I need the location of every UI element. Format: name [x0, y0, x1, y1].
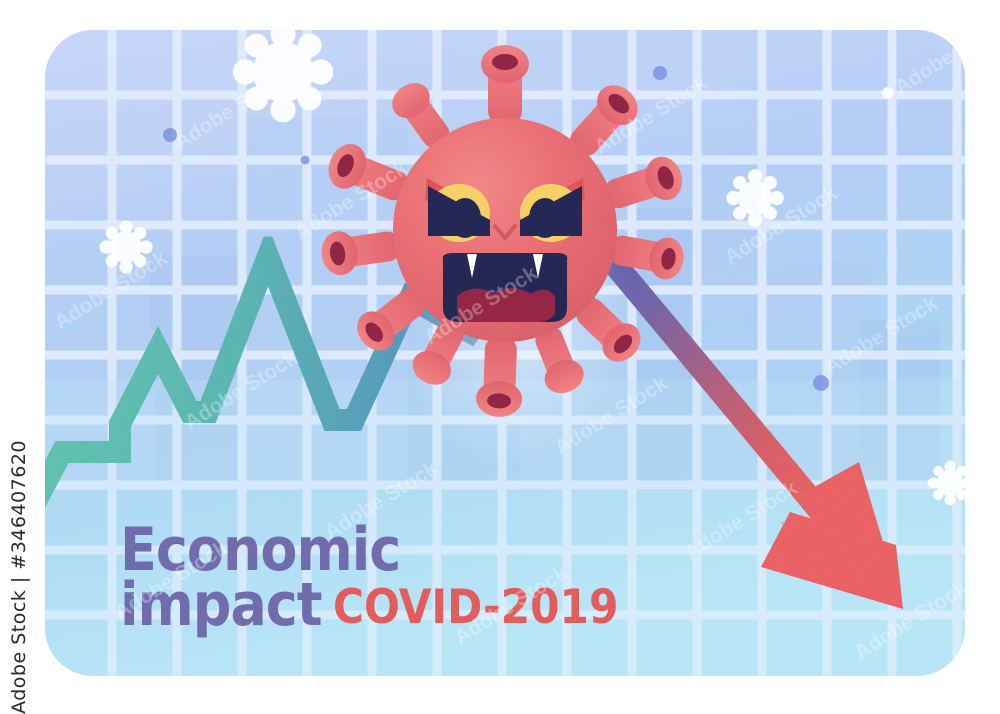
- poster-stage: Economic impact COVID-2019 Adobe Stock A…: [0, 0, 1000, 714]
- poster-artboard: Economic impact COVID-2019 Adobe Stock A…: [0, 0, 1000, 714]
